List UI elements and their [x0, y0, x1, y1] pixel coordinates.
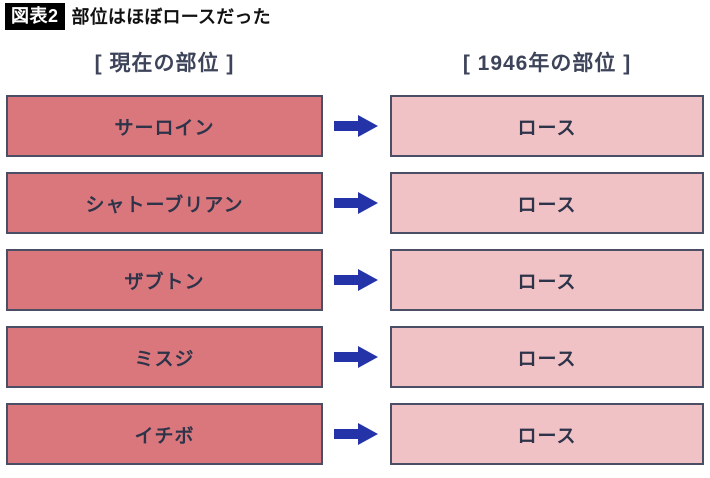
current-part-cell: シャトーブリアン — [6, 172, 323, 234]
column-header-current: [ 現在の部位 ] — [6, 47, 323, 77]
current-part-cell: ザブトン — [6, 249, 323, 311]
table-row: シャトーブリアン ロース — [0, 172, 710, 234]
current-part-cell: イチボ — [6, 403, 323, 465]
table-row: ミスジ ロース — [0, 326, 710, 388]
figure-number-badge: 図表2 — [5, 3, 65, 30]
current-part-cell: ミスジ — [6, 326, 323, 388]
legacy-part-cell: ロース — [390, 403, 704, 465]
mapping-rows: サーロイン ロース シャトーブリアン ロース ザブトン ロース ミスジ — [0, 95, 710, 465]
right-arrow-icon — [334, 192, 378, 214]
legacy-part-cell: ロース — [390, 172, 704, 234]
right-arrow-icon — [334, 115, 378, 137]
legacy-part-cell: ロース — [390, 326, 704, 388]
right-arrow-icon — [334, 346, 378, 368]
title-row: 図表2 部位はほぼロースだった — [5, 3, 271, 29]
table-row: サーロイン ロース — [0, 95, 710, 157]
right-arrow-icon — [334, 269, 378, 291]
current-part-cell: サーロイン — [6, 95, 323, 157]
column-header-1946: [ 1946年の部位 ] — [390, 47, 704, 77]
legacy-part-cell: ロース — [390, 249, 704, 311]
table-row: ザブトン ロース — [0, 249, 710, 311]
legacy-part-cell: ロース — [390, 95, 704, 157]
page-title: 部位はほぼロースだった — [72, 3, 271, 29]
table-row: イチボ ロース — [0, 403, 710, 465]
right-arrow-icon — [334, 423, 378, 445]
